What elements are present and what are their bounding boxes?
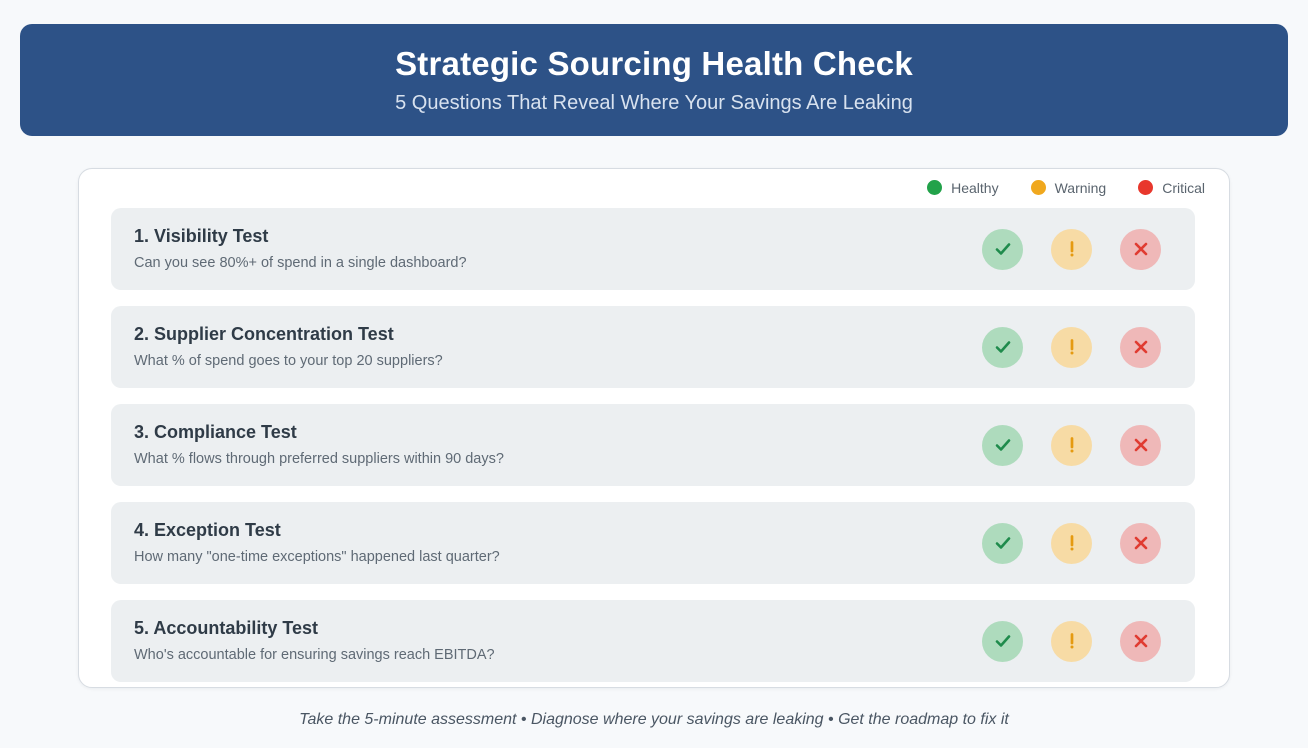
question-row: 2. Supplier Concentration Test What % of… [111,306,1195,388]
x-icon [1131,533,1151,553]
check-icon [993,337,1013,357]
question-row: 1. Visibility Test Can you see 80%+ of s… [111,208,1195,290]
status-button-warning[interactable] [1051,327,1092,368]
question-row: 5. Accountability Test Who's accountable… [111,600,1195,682]
status-button-critical[interactable] [1120,327,1161,368]
question-subtitle: What % of spend goes to your top 20 supp… [134,353,982,370]
question-list: 1. Visibility Test Can you see 80%+ of s… [111,208,1195,682]
question-title: 5. Accountability Test [134,618,982,640]
footer-note: Take the 5-minute assessment • Diagnose … [0,710,1308,729]
legend-item-critical: Critical [1138,180,1205,195]
status-选择-group [982,229,1177,270]
status-button-healthy[interactable] [982,425,1023,466]
x-icon [1131,631,1151,651]
question-text: 2. Supplier Concentration Test What % of… [134,324,982,370]
x-icon [1131,435,1151,455]
status-select-group [982,327,1177,368]
exclamation-icon [1062,631,1082,651]
question-subtitle: Who's accountable for ensuring savings r… [134,647,982,664]
question-subtitle: Can you see 80%+ of spend in a single da… [134,255,982,272]
check-icon [993,631,1013,651]
status-button-critical[interactable] [1120,621,1161,662]
legend-dot-healthy-icon [927,180,942,195]
question-text: 5. Accountability Test Who's accountable… [134,618,982,664]
question-title: 3. Compliance Test [134,422,982,444]
legend-label-critical: Critical [1162,181,1205,195]
question-title: 4. Exception Test [134,520,982,542]
question-text: 3. Compliance Test What % flows through … [134,422,982,468]
question-title: 1. Visibility Test [134,226,982,248]
status-button-critical[interactable] [1120,523,1161,564]
x-icon [1131,239,1151,259]
status-button-healthy[interactable] [982,621,1023,662]
x-icon [1131,337,1151,357]
legend-dot-warning-icon [1031,180,1046,195]
status-button-warning[interactable] [1051,523,1092,564]
exclamation-icon [1062,239,1082,259]
status-button-healthy[interactable] [982,229,1023,270]
status-button-critical[interactable] [1120,229,1161,270]
question-row: 3. Compliance Test What % flows through … [111,404,1195,486]
check-icon [993,239,1013,259]
health-check-card: Healthy Warning Critical 1. Visibility T… [78,168,1230,688]
status-select-group [982,523,1177,564]
page-root: Strategic Sourcing Health Check 5 Questi… [0,0,1308,748]
legend-label-healthy: Healthy [951,181,998,195]
question-subtitle: What % flows through preferred suppliers… [134,451,982,468]
status-legend: Healthy Warning Critical [927,180,1205,195]
header-banner: Strategic Sourcing Health Check 5 Questi… [20,24,1288,136]
legend-item-warning: Warning [1031,180,1107,195]
status-select-group [982,621,1177,662]
status-button-healthy[interactable] [982,523,1023,564]
status-button-warning[interactable] [1051,229,1092,270]
exclamation-icon [1062,435,1082,455]
question-text: 1. Visibility Test Can you see 80%+ of s… [134,226,982,272]
question-subtitle: How many "one-time exceptions" happened … [134,549,982,566]
status-button-critical[interactable] [1120,425,1161,466]
status-select-group [982,425,1177,466]
exclamation-icon [1062,337,1082,357]
legend-label-warning: Warning [1055,181,1107,195]
check-icon [993,435,1013,455]
legend-dot-critical-icon [1138,180,1153,195]
page-subtitle: 5 Questions That Reveal Where Your Savin… [395,92,913,114]
status-button-healthy[interactable] [982,327,1023,368]
question-text: 4. Exception Test How many "one-time exc… [134,520,982,566]
status-button-warning[interactable] [1051,621,1092,662]
check-icon [993,533,1013,553]
status-button-warning[interactable] [1051,425,1092,466]
legend-item-healthy: Healthy [927,180,998,195]
question-title: 2. Supplier Concentration Test [134,324,982,346]
question-row: 4. Exception Test How many "one-time exc… [111,502,1195,584]
page-title: Strategic Sourcing Health Check [395,46,913,82]
exclamation-icon [1062,533,1082,553]
